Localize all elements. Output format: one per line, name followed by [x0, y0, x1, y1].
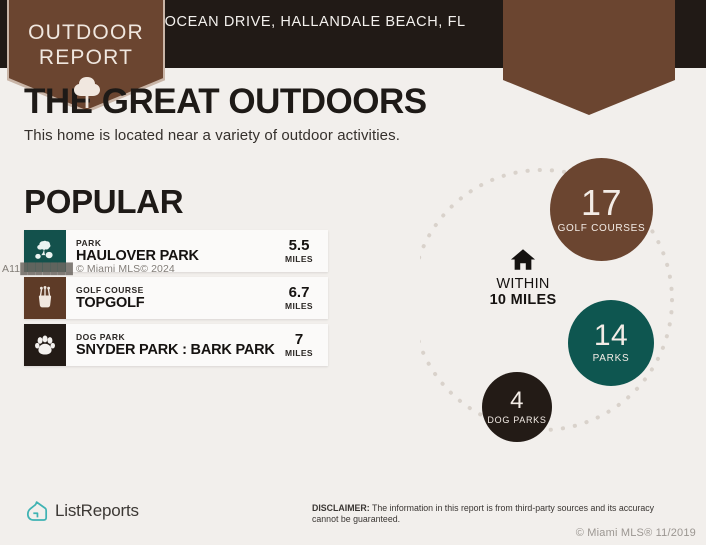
distance-unit: MILES: [276, 254, 322, 264]
stat-count: 4: [510, 389, 524, 413]
list-item-distance: 6.7 MILES: [276, 285, 328, 311]
disclaimer: DISCLAIMER: The information in this repo…: [312, 503, 682, 525]
stat-circle-parks[interactable]: 14 PARKS: [568, 300, 654, 386]
distance-value: 6.7: [276, 285, 322, 301]
distance-value: 5.5: [276, 238, 322, 254]
list-item[interactable]: DOG PARK SNYDER PARK : BARK PARK 7 MILES: [24, 324, 328, 366]
list-item-text: DOG PARK SNYDER PARK : BARK PARK: [66, 332, 276, 359]
distance-unit: MILES: [276, 348, 322, 358]
distance-value: 7: [276, 332, 322, 348]
stat-label: PARKS: [593, 353, 630, 365]
tree-icon: [72, 76, 102, 108]
list-item-text: GOLF COURSE TOPGOLF: [66, 285, 276, 312]
list-item-category: DOG PARK: [76, 332, 276, 342]
golf-bag-icon: [24, 277, 66, 319]
badge-title-line1: OUTDOOR: [0, 20, 172, 45]
stat-circle-golf-courses[interactable]: 17 GOLF COURSES: [550, 158, 653, 261]
stat-count: 17: [581, 185, 622, 221]
within-line1: WITHIN: [468, 276, 578, 292]
mls-copyright: © Miami MLS® 11/2019: [576, 527, 696, 539]
badge-shape: [503, 0, 675, 115]
within-line2: 10 MILES: [468, 292, 578, 309]
stat-label: DOG PARKS: [487, 415, 546, 425]
list-item-distance: 5.5 MILES: [276, 238, 328, 264]
stat-label: GOLF COURSES: [558, 223, 646, 235]
home-icon: [510, 248, 536, 271]
distance-unit: MILES: [276, 301, 322, 311]
listreports-logo-text: ListReports: [55, 501, 139, 521]
amenities-diagram: 17 GOLF COURSES 14 PARKS 4 DOG PARKS WIT…: [420, 150, 706, 480]
stat-count: 14: [594, 321, 628, 351]
list-item-category: GOLF COURSE: [76, 285, 276, 295]
list-item[interactable]: GOLF COURSE TOPGOLF 6.7 MILES: [24, 277, 328, 319]
listreports-house-icon: [26, 500, 48, 522]
list-item-text: PARK HAULOVER PARK: [66, 238, 276, 265]
disclaimer-label: DISCLAIMER:: [312, 503, 370, 513]
mls-watermark: A11███████ © Miami MLS© 2024: [2, 263, 175, 275]
badge-title-line2: REPORT: [0, 45, 172, 70]
popular-list: PARK HAULOVER PARK 5.5 MILES GOLF COURSE…: [24, 230, 328, 371]
stat-circle-dog-parks[interactable]: 4 DOG PARKS: [482, 372, 552, 442]
diagram-center-label: WITHIN 10 MILES: [468, 248, 578, 309]
list-item-distance: 7 MILES: [276, 332, 328, 358]
page-subtitle: This home is located near a variety of o…: [24, 127, 400, 144]
listreports-logo[interactable]: ListReports: [26, 500, 139, 522]
section-title-popular: POPULAR: [24, 183, 183, 221]
badge-title: OUTDOOR REPORT: [0, 20, 172, 70]
list-item-name: SNYDER PARK : BARK PARK: [76, 342, 276, 359]
list-item-name: HAULOVER PARK: [76, 248, 276, 265]
list-item-category: PARK: [76, 238, 276, 248]
paw-icon: [24, 324, 66, 366]
list-item-name: TOPGOLF: [76, 295, 276, 312]
